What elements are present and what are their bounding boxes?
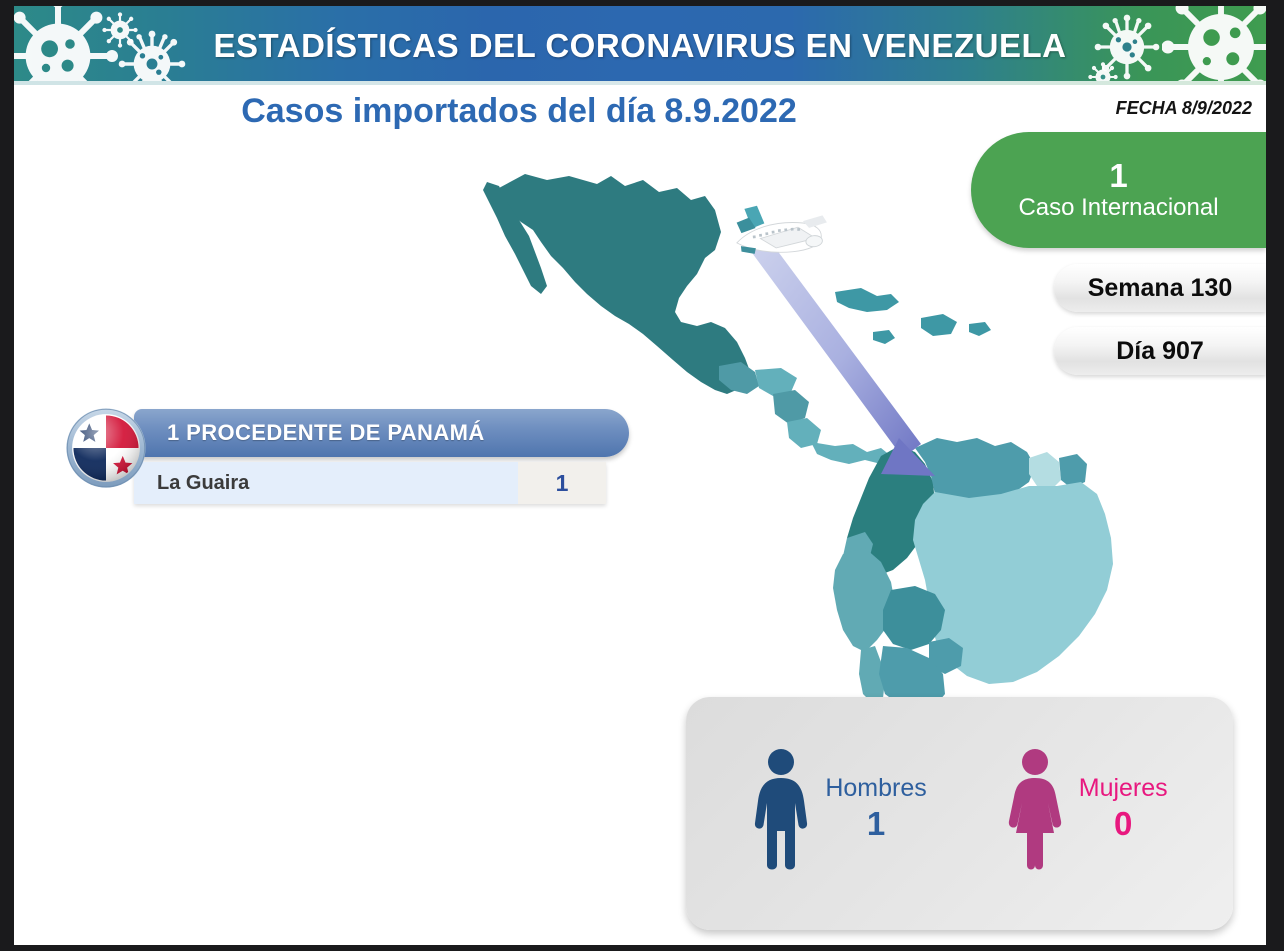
origin-card-panama: 1 PROCEDENTE DE PANAMÁ La Guaira 1 bbox=[134, 409, 629, 504]
gender-breakdown-panel: Hombres 1 Mujeres 0 bbox=[686, 697, 1233, 930]
map-region-hispaniola bbox=[921, 314, 957, 336]
header-banner: ESTADÍSTICAS DEL CORONAVIRUS EN VENEZUEL… bbox=[14, 6, 1266, 85]
infographic-root: ESTADÍSTICAS DEL CORONAVIRUS EN VENEZUEL… bbox=[0, 0, 1284, 951]
map-region-bolivia bbox=[883, 586, 945, 650]
map-region-cuba bbox=[835, 288, 899, 312]
banner-title: ESTADÍSTICAS DEL CORONAVIRUS EN VENEZUEL… bbox=[14, 27, 1266, 65]
origin-card-heading: 1 PROCEDENTE DE PANAMÁ bbox=[134, 409, 629, 457]
origin-row-state: La Guaira bbox=[134, 462, 518, 504]
panama-flag-icon bbox=[62, 404, 150, 492]
banner-underline bbox=[14, 81, 1266, 85]
female-stat-text: Mujeres 0 bbox=[1079, 774, 1168, 843]
origin-row-count: 1 bbox=[518, 462, 606, 504]
map-region-guyana bbox=[1029, 452, 1061, 490]
map-region-jamaica bbox=[873, 330, 895, 344]
page-title: Casos importados del día 8.9.2022 bbox=[14, 92, 1024, 131]
male-label: Hombres bbox=[825, 774, 926, 802]
map-region-puerto-rico bbox=[969, 322, 991, 336]
map-region-suriname bbox=[1059, 454, 1087, 488]
male-stat-block: Hombres 1 bbox=[751, 745, 926, 873]
male-value: 1 bbox=[867, 806, 885, 843]
airplane-icon bbox=[717, 196, 834, 277]
female-label: Mujeres bbox=[1079, 774, 1168, 802]
table-row: La Guaira 1 bbox=[134, 462, 606, 504]
male-figure-icon bbox=[751, 745, 811, 873]
female-value: 0 bbox=[1114, 806, 1132, 843]
fecha-label: FECHA 8/9/2022 bbox=[1116, 98, 1252, 119]
female-figure-icon bbox=[1005, 745, 1065, 873]
female-stat-block: Mujeres 0 bbox=[1005, 745, 1168, 873]
male-stat-text: Hombres 1 bbox=[825, 774, 926, 843]
infographic-canvas: ESTADÍSTICAS DEL CORONAVIRUS EN VENEZUEL… bbox=[14, 6, 1266, 945]
